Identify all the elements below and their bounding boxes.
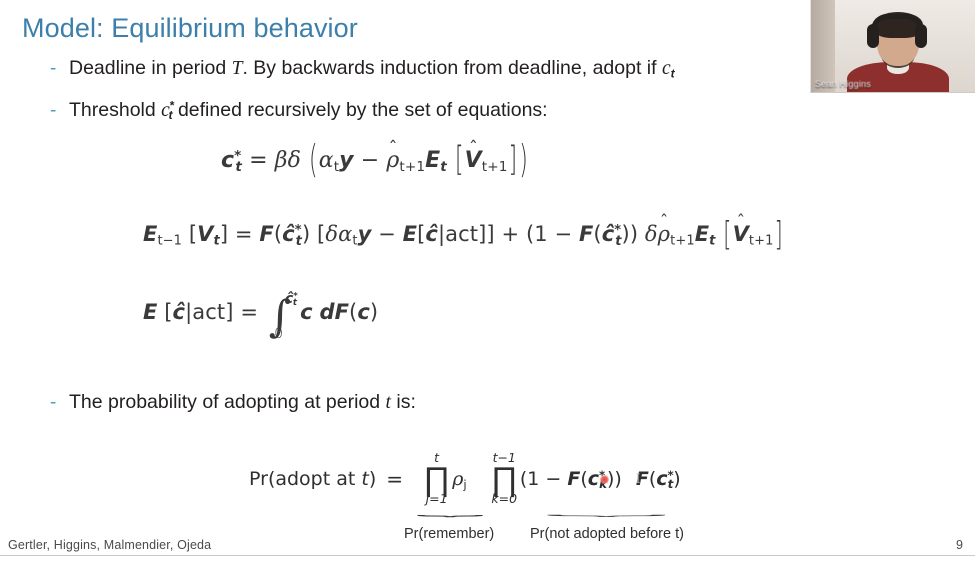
eq2-E: E xyxy=(143,222,157,246)
eq2-chat3: ĉ xyxy=(602,222,615,246)
eq-final-p2-F: F xyxy=(567,468,580,490)
eq1-open-paren: ( xyxy=(309,139,318,183)
eq3-integral-lower-limit: 0 xyxy=(274,326,283,342)
eq-final-lhs: Pr(adopt at t) xyxy=(249,468,386,490)
eq-final-p2-open: (1 xyxy=(520,468,540,490)
eq2-rp3: )) xyxy=(622,222,639,246)
page-title: Model: Equilibrium behavior xyxy=(22,13,358,44)
eq2-rp1: ) xyxy=(302,222,310,246)
bullet-dash-icon: - xyxy=(50,393,69,412)
eq1-rho-hat-icon: ˆ xyxy=(388,138,397,159)
eq1-close-paren: ) xyxy=(519,139,528,183)
eq-final-pr: Pr xyxy=(249,468,268,490)
eq2-close-bracket: ] xyxy=(775,215,783,252)
bullet-dash-icon: - xyxy=(50,101,69,120)
eq2-F2: F xyxy=(579,222,593,246)
eq3-c: c xyxy=(300,300,313,324)
eq2-lb1: [ xyxy=(189,222,197,246)
eq1-y: y xyxy=(339,148,353,173)
eq1-open-bracket: [ xyxy=(455,141,464,180)
bullet-text-probability: The probability of adopting at period t … xyxy=(69,391,416,414)
brace-icon: ⏟ xyxy=(546,507,669,514)
eq1-V-hat-wrap: ˆV xyxy=(465,148,482,173)
eq-final-tail-rp: ) xyxy=(673,468,680,490)
eq3-c2: c xyxy=(357,300,370,324)
eq2-plus: + xyxy=(501,222,519,246)
eq-final-rho: ρ xyxy=(452,468,463,490)
bullet-item-probability: - The probability of adopting at period … xyxy=(50,391,416,414)
text-cursor-icon: I xyxy=(634,473,642,487)
underbrace-remember: ⏟ Pr(remember) xyxy=(404,505,494,542)
bullet-text-deadline: Deadline in period T. By backwards induc… xyxy=(69,57,675,80)
eq2-E-sub: t−1 xyxy=(157,234,182,249)
eq-final-close: ) xyxy=(369,468,376,490)
eq2-delta2: δ xyxy=(645,222,658,246)
brace-icon: ⏟ xyxy=(416,507,483,514)
webcam-video-overlay[interactable]: Sean Higgins xyxy=(810,0,975,93)
eq2-y: y xyxy=(358,222,372,246)
eq1-beta: β xyxy=(275,148,288,173)
bullet-2-pre: Threshold xyxy=(69,99,161,121)
headphone-right-cup xyxy=(915,24,927,48)
eq3-rp: ) xyxy=(370,300,378,324)
product-pi-icon: ∏ xyxy=(491,465,518,493)
bullet-item-threshold: - Threshold c*t defined recursively by t… xyxy=(50,99,548,122)
eq2-minus: − xyxy=(378,222,396,246)
product-symbol-1: t ∏ j=1 xyxy=(423,452,450,505)
integral-icon: ∫ĉ*t0 xyxy=(269,292,292,342)
bullet-3-pre: The probability of adopting at period xyxy=(69,391,386,413)
eq2-alpha: α xyxy=(338,222,352,246)
eq1-minus: − xyxy=(361,148,380,173)
bullet-item-deadline: - Deadline in period T. By backwards ind… xyxy=(50,57,675,80)
eq1-V-sub: t+1 xyxy=(482,159,508,175)
eq2-rb3: ]] xyxy=(478,222,495,246)
eq-final-p2-close: )) xyxy=(607,468,622,490)
eq3-upper-sub: t xyxy=(293,298,297,308)
eq2-chat2: ĉ xyxy=(425,222,438,246)
eq1-E: E xyxy=(425,148,440,173)
eq1-equals: = xyxy=(249,148,268,173)
bullet-1-mid: . By backwards induction from deadline, … xyxy=(242,57,661,79)
bullet-text-threshold: Threshold c*t defined recursively by the… xyxy=(69,99,548,122)
eq2-equals: = xyxy=(235,222,253,246)
eq1-E-sub: t xyxy=(440,159,447,175)
eq-final-tail: F(c*t) xyxy=(636,468,681,490)
bullet-1-var-T: T xyxy=(232,58,243,79)
eq1-delta: δ xyxy=(288,148,301,173)
footer-authors: Gertler, Higgins, Malmendier, Ojeda xyxy=(8,538,211,552)
eq2-lp3: ( xyxy=(593,222,601,246)
product-2-lower: k=0 xyxy=(491,493,517,506)
product-1-body: ρj xyxy=(452,468,466,490)
eq2-E2: E xyxy=(403,222,417,246)
eq2-open-bracket: [ xyxy=(723,215,731,252)
eq2-V2-sub: t+1 xyxy=(749,234,774,249)
eq1-lhs-c: c xyxy=(221,148,234,173)
eq-final-equals: = xyxy=(386,467,421,491)
eq1-lhs-sub: t xyxy=(235,159,242,175)
eq2-V-hat-icon: ˆ xyxy=(737,212,746,232)
eq1-alpha: α xyxy=(319,148,334,173)
footer-divider xyxy=(0,555,975,556)
eq1-V-hat-icon: ˆ xyxy=(469,138,478,159)
laser-pointer-dot xyxy=(600,475,609,484)
eq-final-open: (adopt at xyxy=(268,468,361,490)
underbrace-label-remember: Pr(remember) xyxy=(404,526,494,542)
eq3-act: act xyxy=(192,300,225,324)
presentation-slide: Model: Equilibrium behavior - Deadline i… xyxy=(0,0,975,561)
equation-conditional-expectation: E [ĉ|act] = ∫ĉ*t0 c dF(c) xyxy=(143,292,378,342)
product-pi-icon: ∏ xyxy=(423,465,450,493)
bullet-dash-icon: - xyxy=(50,59,69,78)
product-remember: t ∏ j=1 ρj xyxy=(421,452,467,505)
eq1-rho-hat-wrap: ˆρ xyxy=(386,148,399,173)
webcam-participant-name: Sean Higgins xyxy=(811,77,875,92)
eq2-E3: E xyxy=(695,222,709,246)
eq2-lp1: ( xyxy=(274,222,282,246)
eq2-rho-sub: t+1 xyxy=(670,234,695,249)
bullet-2-mid: defined recursively by the set of equati… xyxy=(173,99,548,121)
eq2-one: 1 xyxy=(534,222,547,246)
eq3-d: d xyxy=(319,300,334,324)
eq2-V: V xyxy=(197,222,213,246)
eq1-close-bracket: ] xyxy=(509,141,518,180)
eq2-rho-hat-wrap: ˆρ xyxy=(658,222,670,246)
eq-final-p2-c: c xyxy=(588,468,599,490)
eq-final-var-t: t xyxy=(361,468,368,490)
eq3-lb: [ xyxy=(164,300,172,324)
underbrace-not-adopted: ⏟ Pr(not adopted before t) xyxy=(530,505,684,542)
bullet-1-var-c: c xyxy=(662,58,671,79)
eq2-delta: δ xyxy=(325,222,338,246)
eq1-rho-sub: t+1 xyxy=(399,159,425,175)
bullet-1-pre: Deadline in period xyxy=(69,57,232,79)
eq-final-tail-c: c xyxy=(656,468,667,490)
eq2-rb1: ] xyxy=(220,222,228,246)
eq3-F: F xyxy=(335,300,349,324)
eq-final-p2-lp: ( xyxy=(580,468,587,490)
eq3-rb: ] xyxy=(225,300,233,324)
bullet-1-var-c-sub: t xyxy=(671,66,675,80)
eq2-V-hat-wrap: ˆV xyxy=(733,222,749,246)
eq3-equals: = xyxy=(240,300,258,324)
eq3-E: E xyxy=(143,300,157,324)
eq2-minus2: − xyxy=(554,222,572,246)
equation-threshold: c*t = βδ (αty − ˆρt+1Et [ˆVt+1]) xyxy=(221,148,529,173)
eq-final-p2-minus: − xyxy=(545,468,561,490)
underbrace-label-not-adopted: Pr(not adopted before t) xyxy=(530,526,684,542)
eq3-chat: ĉ xyxy=(173,300,186,324)
eq2-lp2: ( xyxy=(526,222,534,246)
product-1-lower: j=1 xyxy=(426,493,448,506)
equation-adoption-probability: Pr(adopt at t) = t ∏ j=1 ρj t−1 ∏ k=0 (1… xyxy=(249,452,681,505)
eq2-E3-sub: t xyxy=(709,234,715,249)
headphone-left-cup xyxy=(867,24,879,48)
product-symbol-2: t−1 ∏ k=0 xyxy=(491,452,518,505)
eq3-integral-upper-limit: ĉ*t xyxy=(285,291,297,307)
eq2-chat1: ĉ xyxy=(282,222,295,246)
page-number: 9 xyxy=(956,538,963,552)
eq2-rho-hat-icon: ˆ xyxy=(660,212,669,232)
bullet-3-mid: is: xyxy=(391,391,416,413)
eq2-act: act xyxy=(445,222,478,246)
equation-value-function: Et−1 [Vt] = F(ĉ*t) [δαty − E[ĉ|act]] + (… xyxy=(143,222,784,246)
eq2-F1: F xyxy=(259,222,273,246)
eq-final-rho-sub: j xyxy=(463,477,466,491)
